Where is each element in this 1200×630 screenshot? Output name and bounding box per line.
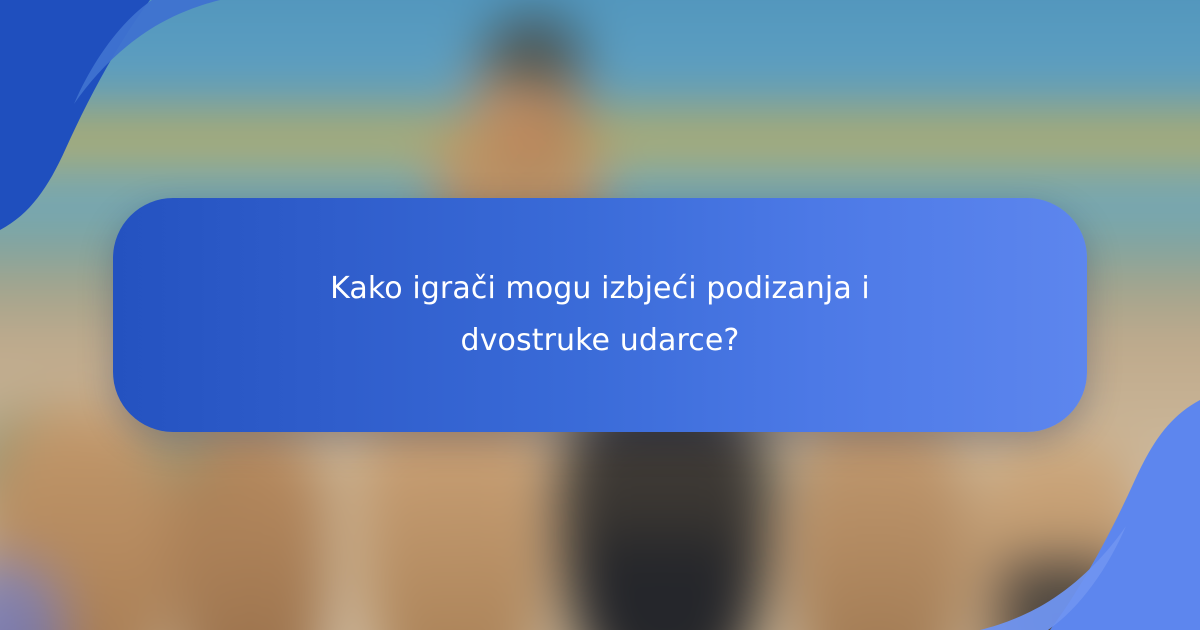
question-card: Kako igrači mogu izbjeći podizanja i dvo…: [113, 198, 1087, 432]
player-center-hair: [486, 15, 581, 85]
question-text: Kako igrači mogu izbjeći podizanja i dvo…: [280, 263, 920, 367]
player-shorts-b: [1002, 561, 1122, 630]
player-shorts-a: [587, 538, 737, 630]
volleyball-net-band: [0, 103, 1200, 176]
player-silhouette-5: [788, 407, 968, 630]
question-card-graphic: Kako igrači mogu izbjeći podizanja i dvo…: [0, 0, 1200, 630]
player-silhouette-2: [171, 423, 331, 630]
